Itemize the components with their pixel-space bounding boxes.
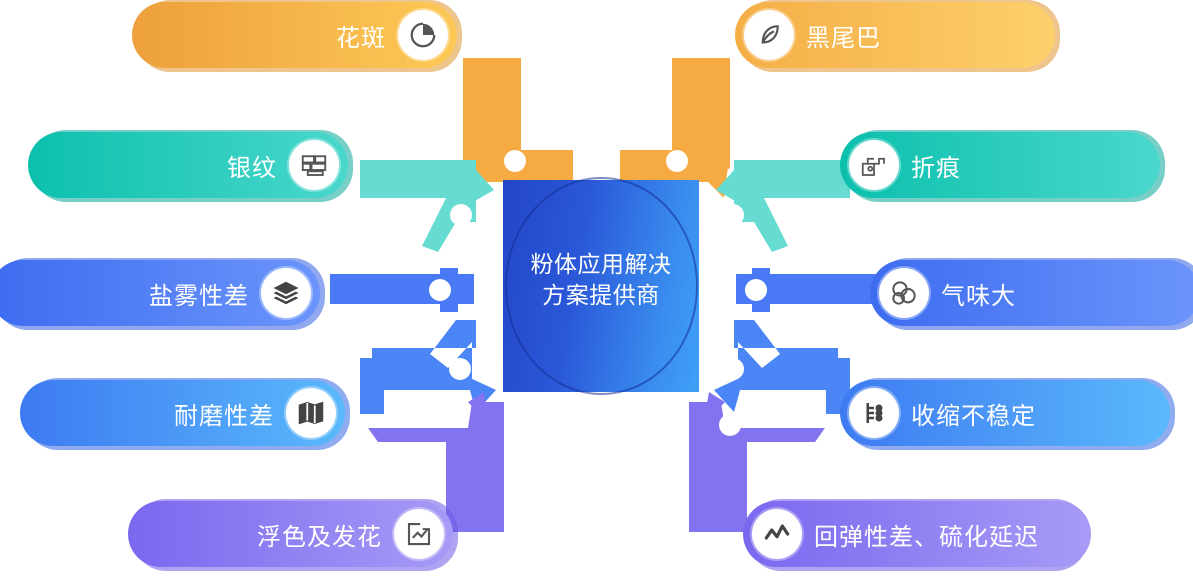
pill-label-huitanxingcha: 回弹性差、硫化延迟 [814,517,1039,552]
pill-label-zhehen: 折痕 [911,148,961,183]
pill-huaban[interactable]: 花斑 [132,2,457,68]
connector-yanwuxingcha [330,268,510,312]
connector-dot-heiweiba [666,150,688,172]
center-label-line1: 粉体应用解决 [498,250,704,281]
pie-chart-icon [398,10,448,60]
connector-dot-naimoxingcha [449,358,471,380]
pill-fusejifahua[interactable]: 浮色及发花 [128,501,453,567]
pill-huitanxingcha[interactable]: 回弹性差、硫化延迟 [743,501,1091,567]
pill-yanwuxingcha[interactable]: 盐雾性差 [0,260,320,326]
infographic-diagram: 粉体应用解决 方案提供商 花斑 黑尾巴 银纹 [0,0,1193,577]
trend-up-box-icon [394,509,444,559]
pill-label-qiweida: 气味大 [941,276,1016,311]
pill-label-fusejifahua: 浮色及发花 [257,517,382,552]
pill-qiweida[interactable]: 气味大 [870,260,1193,326]
connector-dot-fusejifahua [505,414,527,436]
recycle-icon [879,268,929,318]
pill-naimoxingcha[interactable]: 耐磨性差 [20,380,345,446]
pill-heiweiba[interactable]: 黑尾巴 [735,2,1055,68]
pill-label-shousuobuwending: 收缩不稳定 [911,396,1036,431]
connector-dot-yanwuxingcha [429,279,451,301]
pill-label-heiweiba: 黑尾巴 [806,18,881,53]
layers-icon [261,268,311,318]
connector-dot-huitanxingcha [719,414,741,436]
connector-dot-qiweida [745,279,767,301]
leaf-icon [744,10,794,60]
connector-dot-shousuobuwending [722,358,744,380]
connector-dot-huaban [504,150,526,172]
connector-dot-yinwen [450,204,472,226]
connector-yinwen [360,160,510,270]
brick-wall-icon [289,140,339,190]
connector-qiweida [700,268,880,312]
line-chart-icon [752,509,802,559]
center-label: 粉体应用解决 方案提供商 [498,250,704,312]
pill-label-huaban: 花斑 [336,18,386,53]
pill-label-yanwuxingcha: 盐雾性差 [149,276,249,311]
pill-zhehen[interactable]: 折痕 [840,132,1160,198]
connector-dot-zhehen [722,204,744,226]
book-map-icon [286,388,336,438]
pill-label-yinwen: 银纹 [227,148,277,183]
center-label-line2: 方案提供商 [498,281,704,312]
sitemap-icon [849,388,899,438]
pill-yinwen[interactable]: 银纹 [28,132,348,198]
puzzle-icon [849,140,899,190]
pill-label-naimoxingcha: 耐磨性差 [174,396,274,431]
pill-shousuobuwending[interactable]: 收缩不稳定 [840,380,1170,446]
